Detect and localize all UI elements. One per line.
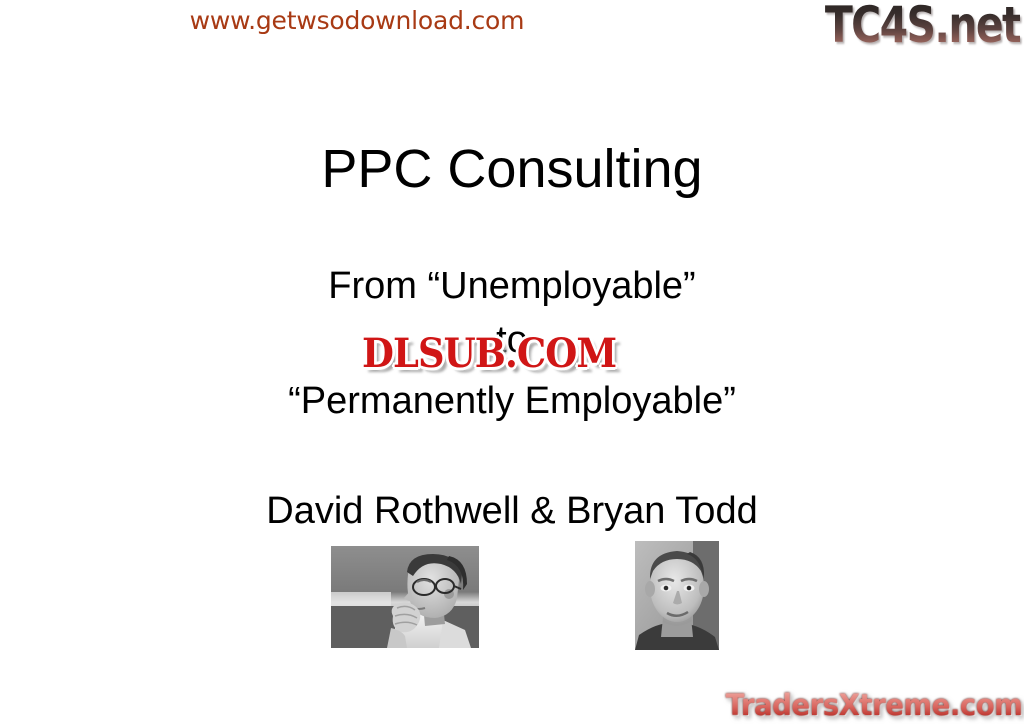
tradersxtreme-logo-watermark: TradersXtreme.com [725,688,1022,722]
subtitle-line-from-unemployable: From “Unemployable” [0,264,1024,308]
dlsub-logo-watermark: DLSUB.COM [362,332,616,376]
presentation-slide: www.getwsodownload.com TC4S.net PPC Cons… [0,0,1024,724]
tc4s-logo-watermark: TC4S.net [825,0,1020,52]
david-rothwell-portrait-graphic [331,546,479,648]
bryan-todd-photo [635,541,719,650]
subtitle-line-permanently-employable: “Permanently Employable” [0,379,1024,423]
david-rothwell-photo [331,546,479,648]
bryan-todd-portrait-graphic [635,541,719,650]
slide-title: PPC Consulting [0,138,1024,200]
author-names: David Rothwell & Bryan Todd [0,489,1024,533]
